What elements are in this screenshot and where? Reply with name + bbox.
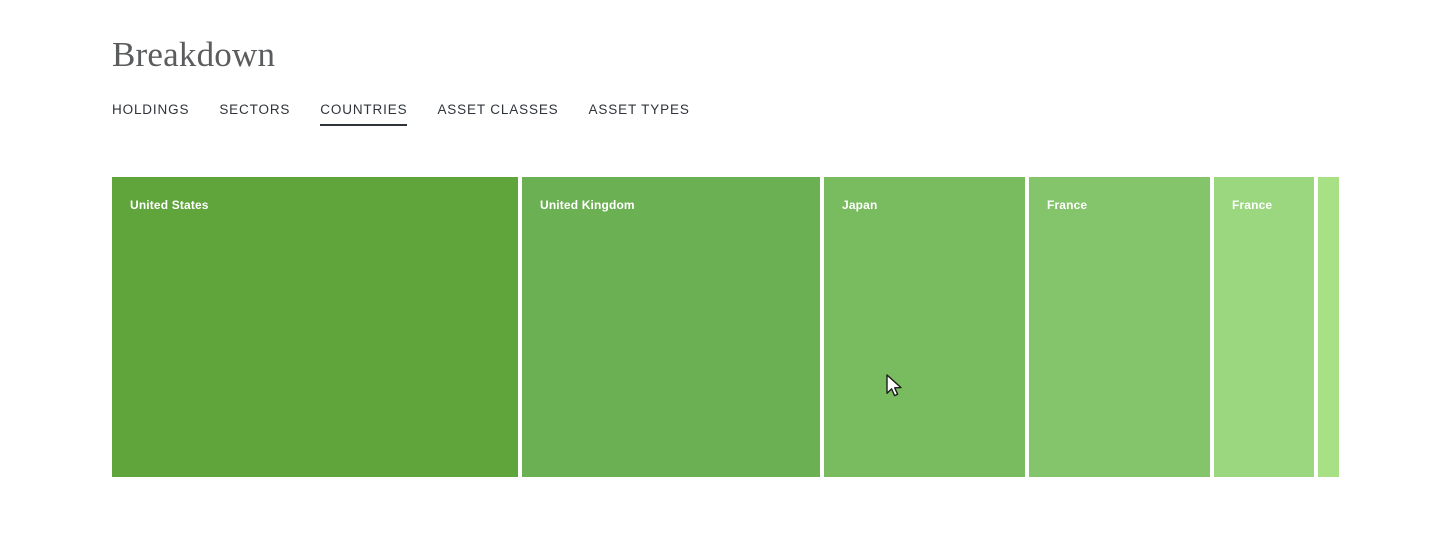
tab-asset-types[interactable]: ASSET TYPES	[589, 100, 690, 126]
treemap-tile-france[interactable]: France	[1214, 177, 1314, 477]
treemap-tile-label: United States	[130, 198, 209, 212]
treemap-tile-france[interactable]: France	[1029, 177, 1210, 477]
treemap-tile-united-states[interactable]: United States	[112, 177, 518, 477]
page-title: Breakdown	[112, 33, 275, 77]
treemap-tile-japan[interactable]: Japan	[824, 177, 1025, 477]
tab-countries[interactable]: COUNTRIES	[320, 100, 407, 126]
treemap-tile-label: France	[1232, 198, 1272, 212]
treemap-tile-label: Japan	[842, 198, 877, 212]
treemap-tile-united-kingdom[interactable]: United Kingdom	[522, 177, 820, 477]
tab-holdings[interactable]: HOLDINGS	[112, 100, 189, 126]
treemap-tile-unlabeled[interactable]	[1318, 177, 1339, 477]
treemap-tile-label: United Kingdom	[540, 198, 635, 212]
treemap-tile-label: France	[1047, 198, 1087, 212]
tab-sectors[interactable]: SECTORS	[219, 100, 290, 126]
countries-treemap-chart: United StatesUnited KingdomJapanFranceFr…	[112, 177, 1327, 477]
breakdown-tabbar: HOLDINGSSECTORSCOUNTRIESASSET CLASSESASS…	[112, 100, 690, 126]
tab-asset-classes[interactable]: ASSET CLASSES	[437, 100, 558, 126]
